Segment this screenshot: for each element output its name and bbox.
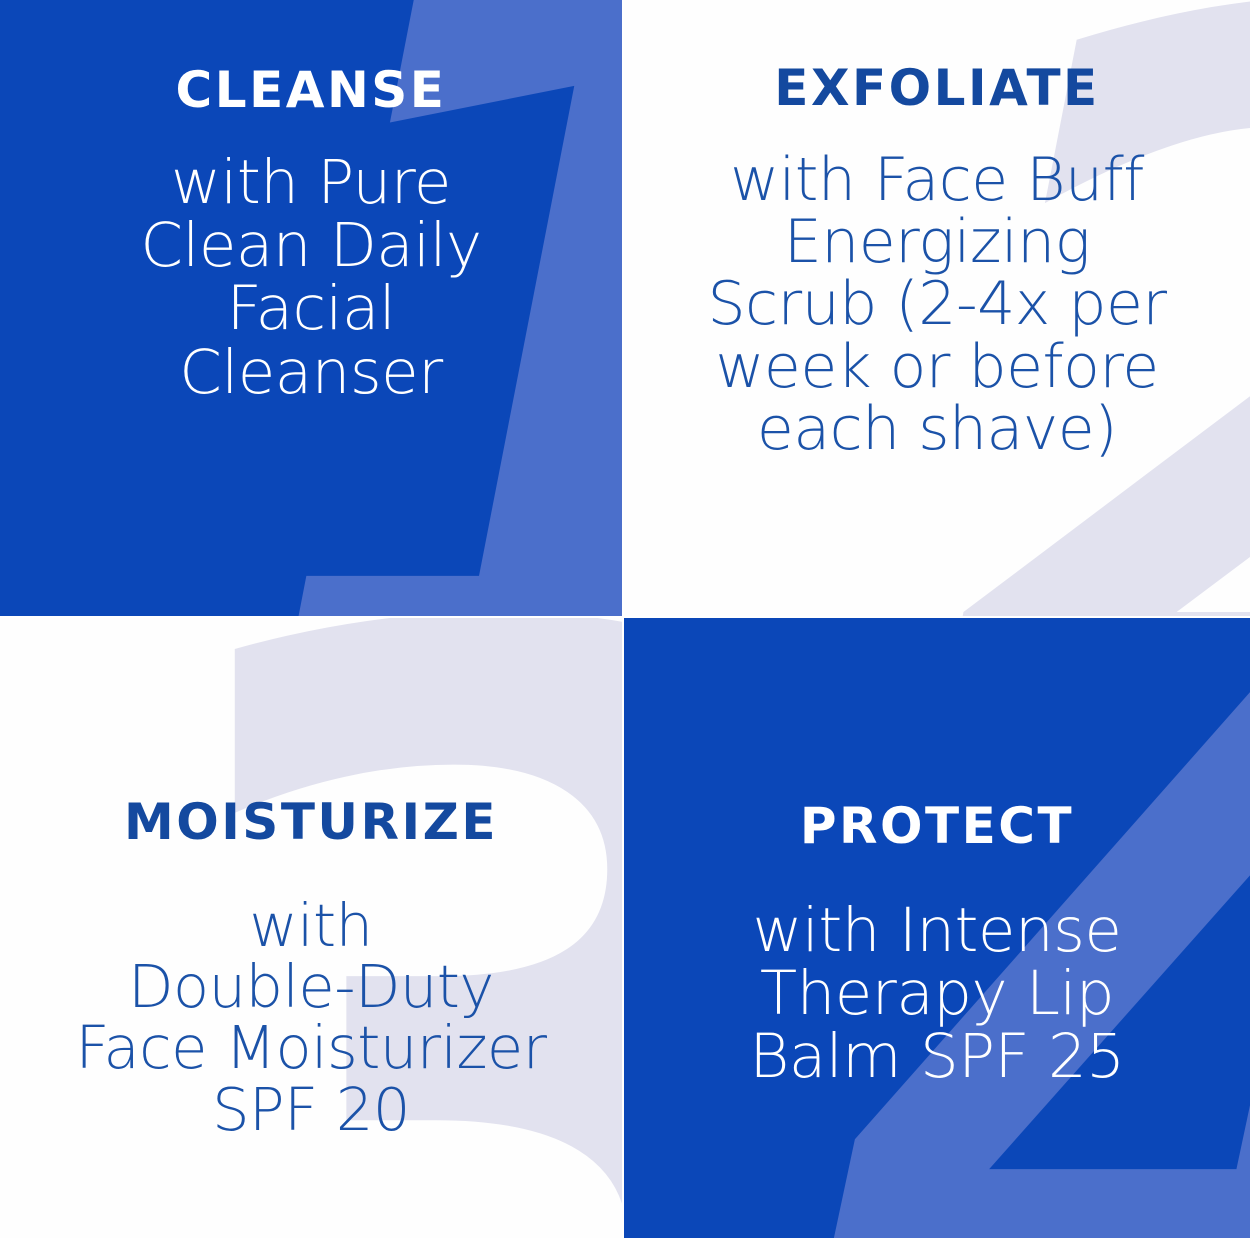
step-body-line: SPF 20: [10, 1079, 612, 1140]
step-body-line: with Face Buff: [640, 149, 1234, 211]
step-body-line: Face Moisturizer: [10, 1017, 612, 1078]
step-body-line: Clean Daily: [24, 214, 598, 277]
step-body-exfoliate: with Face Buff Energizing Scrub (2-4x pe…: [640, 149, 1234, 461]
step-card-protect: 4 PROTECT with Intense Therapy Lip Balm …: [624, 618, 1250, 1238]
step-content-cleanse: CLEANSE with Pure Clean Daily Facial Cle…: [0, 64, 622, 404]
step-body-protect: with Intense Therapy Lip Balm SPF 25: [646, 899, 1228, 1089]
step-body-cleanse: with Pure Clean Daily Facial Cleanser: [24, 151, 598, 405]
skincare-routine-poster: 1 CLEANSE with Pure Clean Daily Facial C…: [0, 0, 1250, 1250]
step-card-moisturize: 3 MOISTURIZE with Double-Duty Face Moist…: [0, 618, 622, 1238]
step-body-line: Cleanser: [24, 341, 598, 404]
step-body-line: with Pure: [24, 151, 598, 214]
step-body-line: Facial: [24, 277, 598, 340]
step-content-moisturize: MOISTURIZE with Double-Duty Face Moistur…: [0, 796, 622, 1140]
step-body-line: Balm SPF 25: [646, 1025, 1228, 1088]
step-body-line: week or before: [640, 336, 1234, 398]
horizontal-divider: [0, 616, 1250, 618]
step-body-line: Double-Duty: [10, 956, 612, 1017]
bottom-white-strip: [0, 1238, 1250, 1250]
step-body-line: with Intense: [646, 899, 1228, 962]
step-body-line: each shave): [640, 398, 1234, 460]
step-heading-protect: PROTECT: [646, 800, 1228, 853]
step-card-cleanse: 1 CLEANSE with Pure Clean Daily Facial C…: [0, 0, 622, 616]
step-content-exfoliate: EXFOLIATE with Face Buff Energizing Scru…: [624, 62, 1250, 460]
step-heading-moisturize: MOISTURIZE: [10, 796, 612, 849]
step-heading-cleanse: CLEANSE: [24, 64, 598, 117]
step-body-moisturize: with Double-Duty Face Moisturizer SPF 20: [10, 895, 612, 1140]
step-content-protect: PROTECT with Intense Therapy Lip Balm SP…: [624, 800, 1250, 1089]
step-body-line: Scrub (2-4x per: [640, 273, 1234, 335]
step-body-line: with: [10, 895, 612, 956]
step-body-line: Energizing: [640, 211, 1234, 273]
step-card-exfoliate: 2 EXFOLIATE with Face Buff Energizing Sc…: [624, 0, 1250, 616]
step-body-line: Therapy Lip: [646, 962, 1228, 1025]
step-heading-exfoliate: EXFOLIATE: [640, 62, 1234, 115]
